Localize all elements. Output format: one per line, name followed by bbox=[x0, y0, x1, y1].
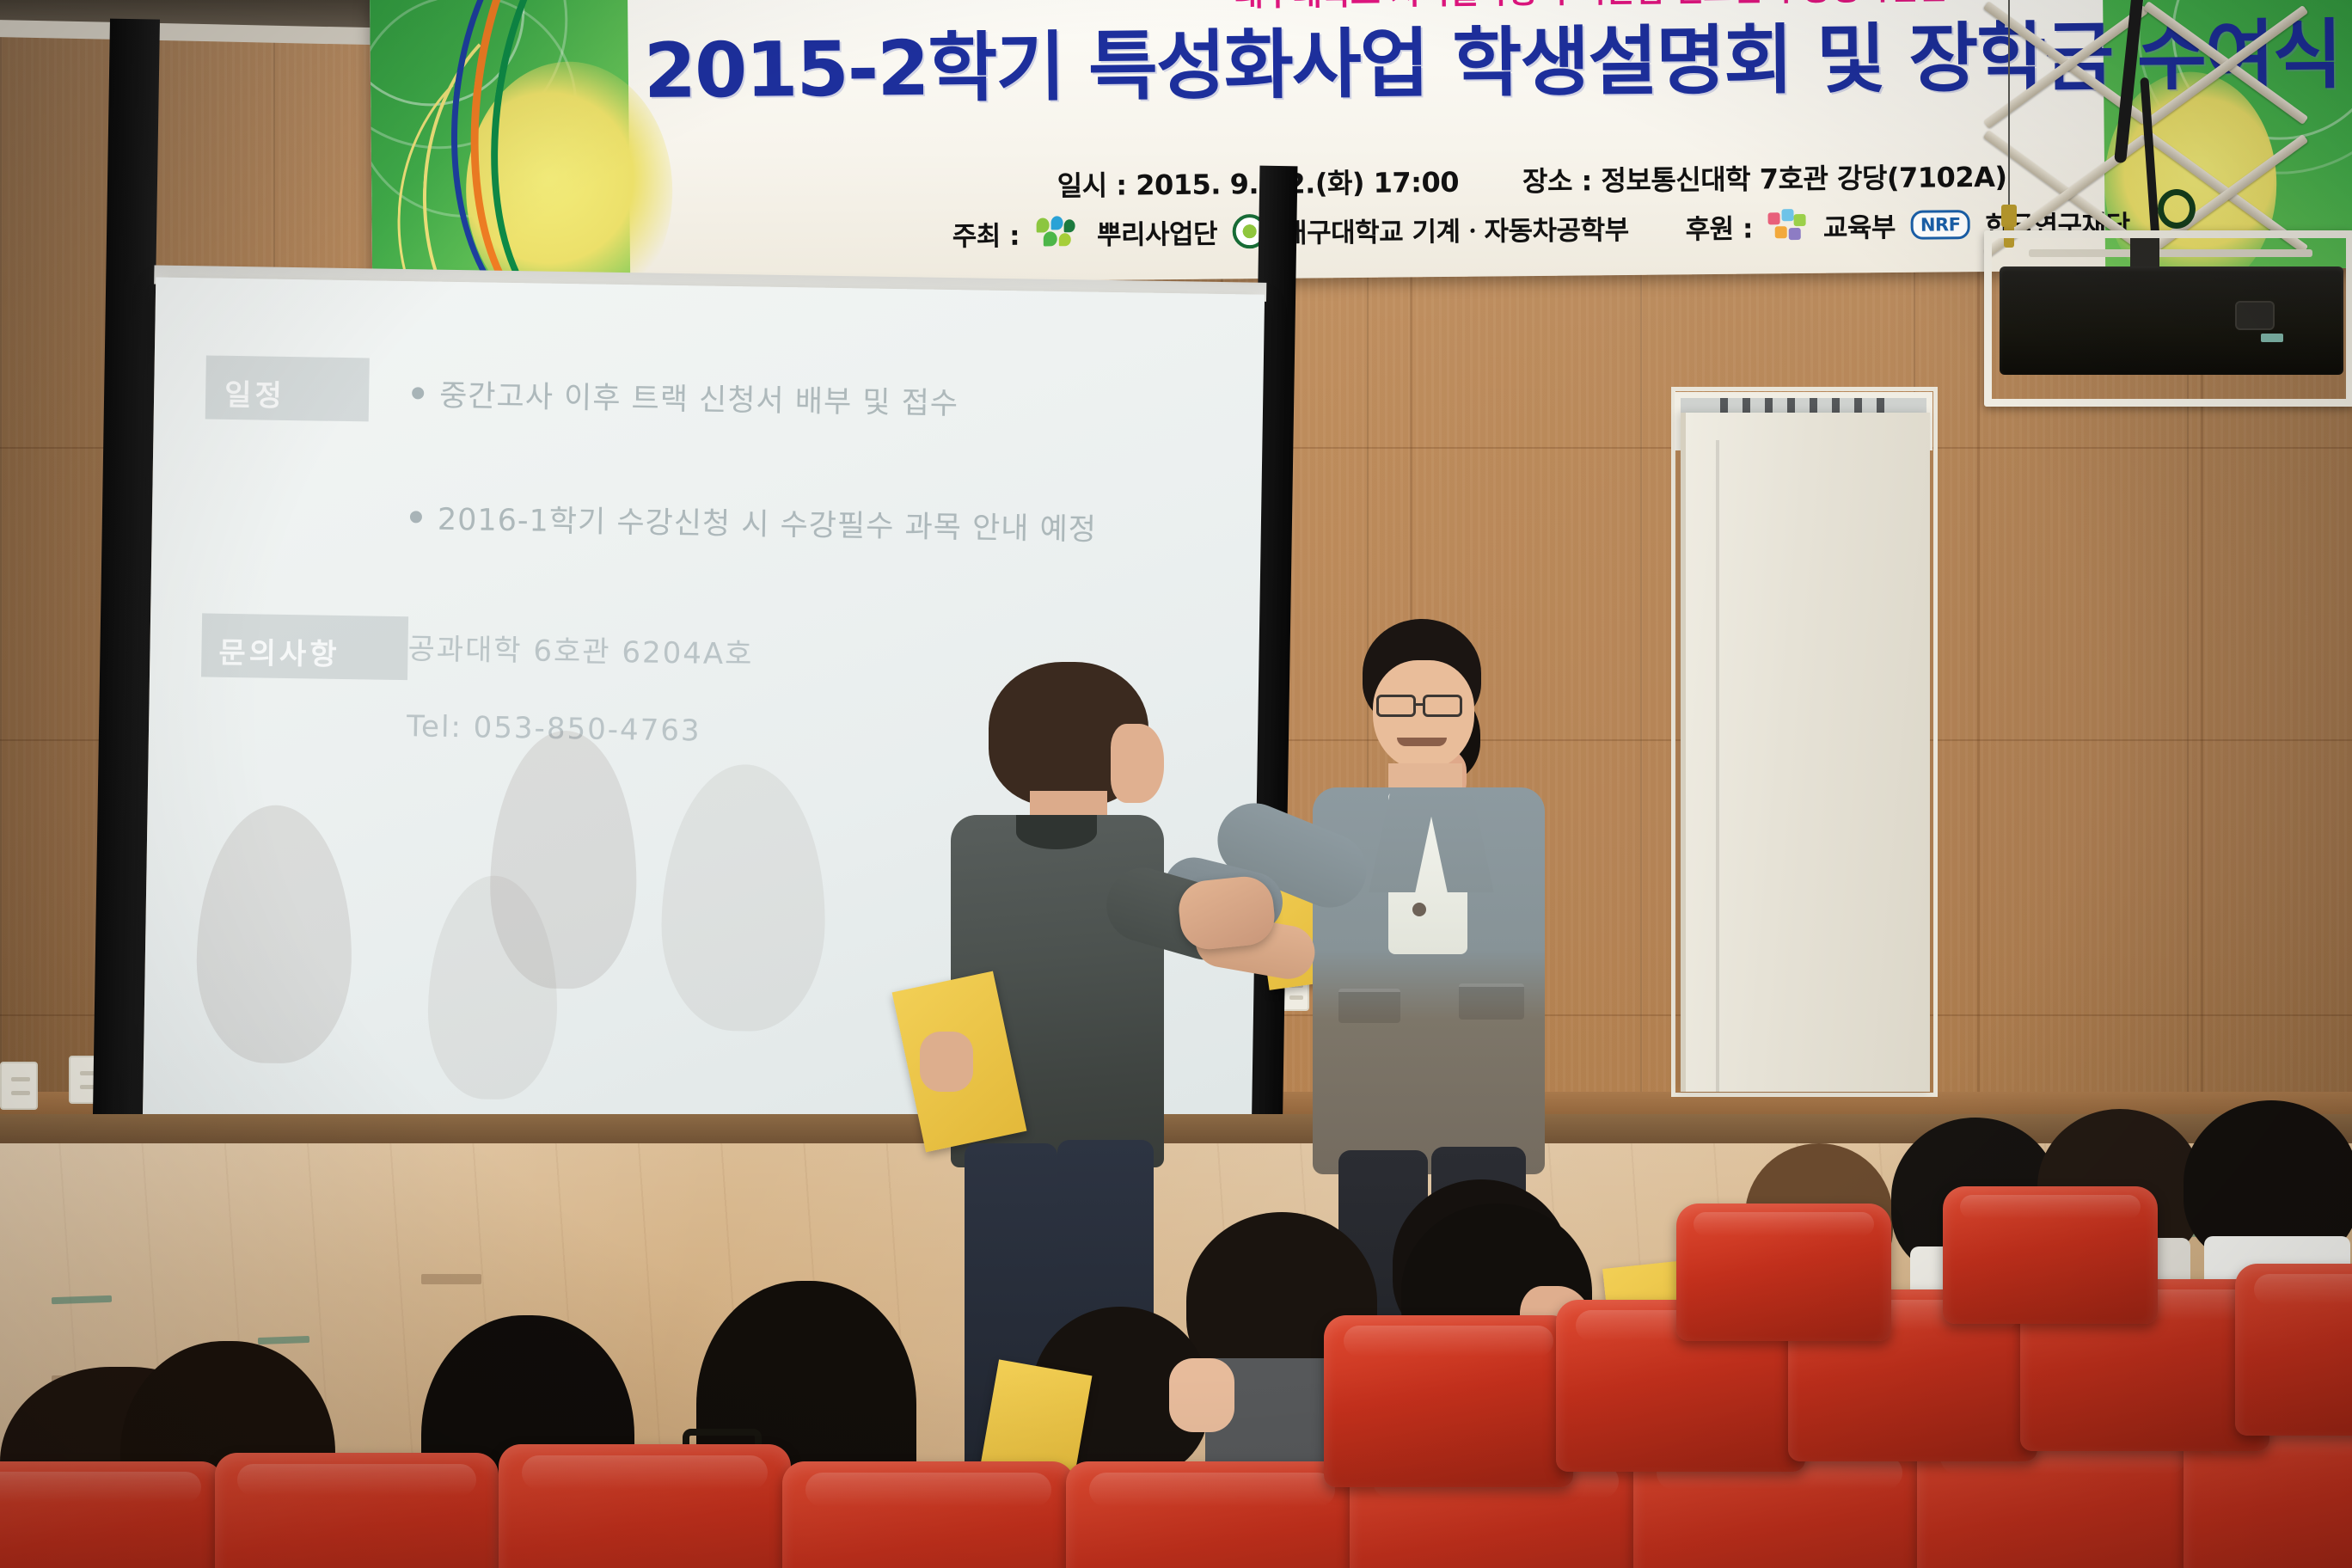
scissor-lift-icon bbox=[1977, 0, 2352, 524]
glasses-icon bbox=[1376, 695, 1416, 717]
slide-bullet-2: 2016-1학기 수강신청 시 수강필수 과목 안내 예정 bbox=[410, 494, 1253, 551]
photo-scene: 대구대학교 지역밀착형 뿌리산업 선도인력 양성사업단 2015-2학기 특성화… bbox=[0, 0, 2352, 1568]
auditorium-seat[interactable] bbox=[2235, 1264, 2352, 1436]
glasses-bridge bbox=[1414, 703, 1424, 706]
auditorium-seat[interactable] bbox=[215, 1453, 499, 1568]
projector-lens-icon bbox=[2235, 301, 2275, 330]
door-panel-seam bbox=[1716, 440, 1719, 1092]
recipient-left-hand bbox=[920, 1032, 973, 1092]
glasses-icon bbox=[1423, 695, 1462, 717]
moe-logo-icon bbox=[1768, 208, 1808, 242]
auditorium-seat[interactable] bbox=[1676, 1204, 1891, 1341]
shadow-silhouette bbox=[660, 763, 828, 1032]
safety-wire bbox=[2008, 0, 2010, 213]
auditorium-seat[interactable] bbox=[499, 1444, 791, 1568]
slide-office-text: 공과대학 6호관 6204A호 bbox=[407, 625, 754, 672]
sponsor-label: 후원 : bbox=[1685, 207, 1753, 247]
slide-section1-label: 일정 bbox=[224, 371, 285, 414]
blazer-pocket bbox=[1338, 989, 1400, 1023]
bullet-dot-icon bbox=[412, 387, 424, 399]
banner-place: 장소 : 정보통신대학 7호관 강당(7102A) bbox=[1522, 156, 2007, 199]
blazer-button bbox=[1412, 903, 1426, 916]
auditorium-seat[interactable] bbox=[1066, 1461, 1358, 1568]
cable-coil bbox=[2158, 189, 2196, 229]
raised-hand bbox=[1169, 1358, 1234, 1432]
tshirt-collar bbox=[1016, 815, 1097, 849]
auditorium-seat[interactable] bbox=[782, 1461, 1075, 1568]
nrf-logo-icon: NRF bbox=[1911, 210, 1970, 240]
blazer-pocket bbox=[1459, 983, 1524, 1020]
auditorium-seat[interactable] bbox=[1943, 1186, 2158, 1324]
sponsor-org1: 교육부 bbox=[1823, 205, 1896, 245]
host-org2: 대구대학교 기계ㆍ자동차공학부 bbox=[1283, 208, 1629, 250]
recipient-face-profile bbox=[1111, 724, 1164, 803]
auditorium-seat[interactable] bbox=[0, 1461, 224, 1568]
auditorium-seat[interactable] bbox=[1324, 1315, 1573, 1487]
slide-bullet-1: 중간고사 이후 트랙 신청서 배부 및 접수 bbox=[412, 371, 1186, 426]
floor-scuff bbox=[421, 1274, 481, 1284]
wall-outlet-icon[interactable] bbox=[0, 1062, 38, 1110]
recipient-person bbox=[937, 662, 1221, 1315]
presenter-mouth bbox=[1397, 738, 1447, 746]
shadow-silhouette bbox=[195, 804, 354, 1064]
slide-section2-label: 문의사항 bbox=[218, 629, 340, 673]
slide-bullet-2-text: 2016-1학기 수강신청 시 수강필수 과목 안내 예정 bbox=[438, 495, 1098, 549]
bullet-dot-icon bbox=[410, 511, 422, 523]
projector-icon bbox=[2000, 266, 2343, 375]
projector-label bbox=[2261, 334, 2283, 342]
slide-bullet-1-text: 중간고사 이후 트랙 신청서 배부 및 접수 bbox=[439, 371, 959, 423]
